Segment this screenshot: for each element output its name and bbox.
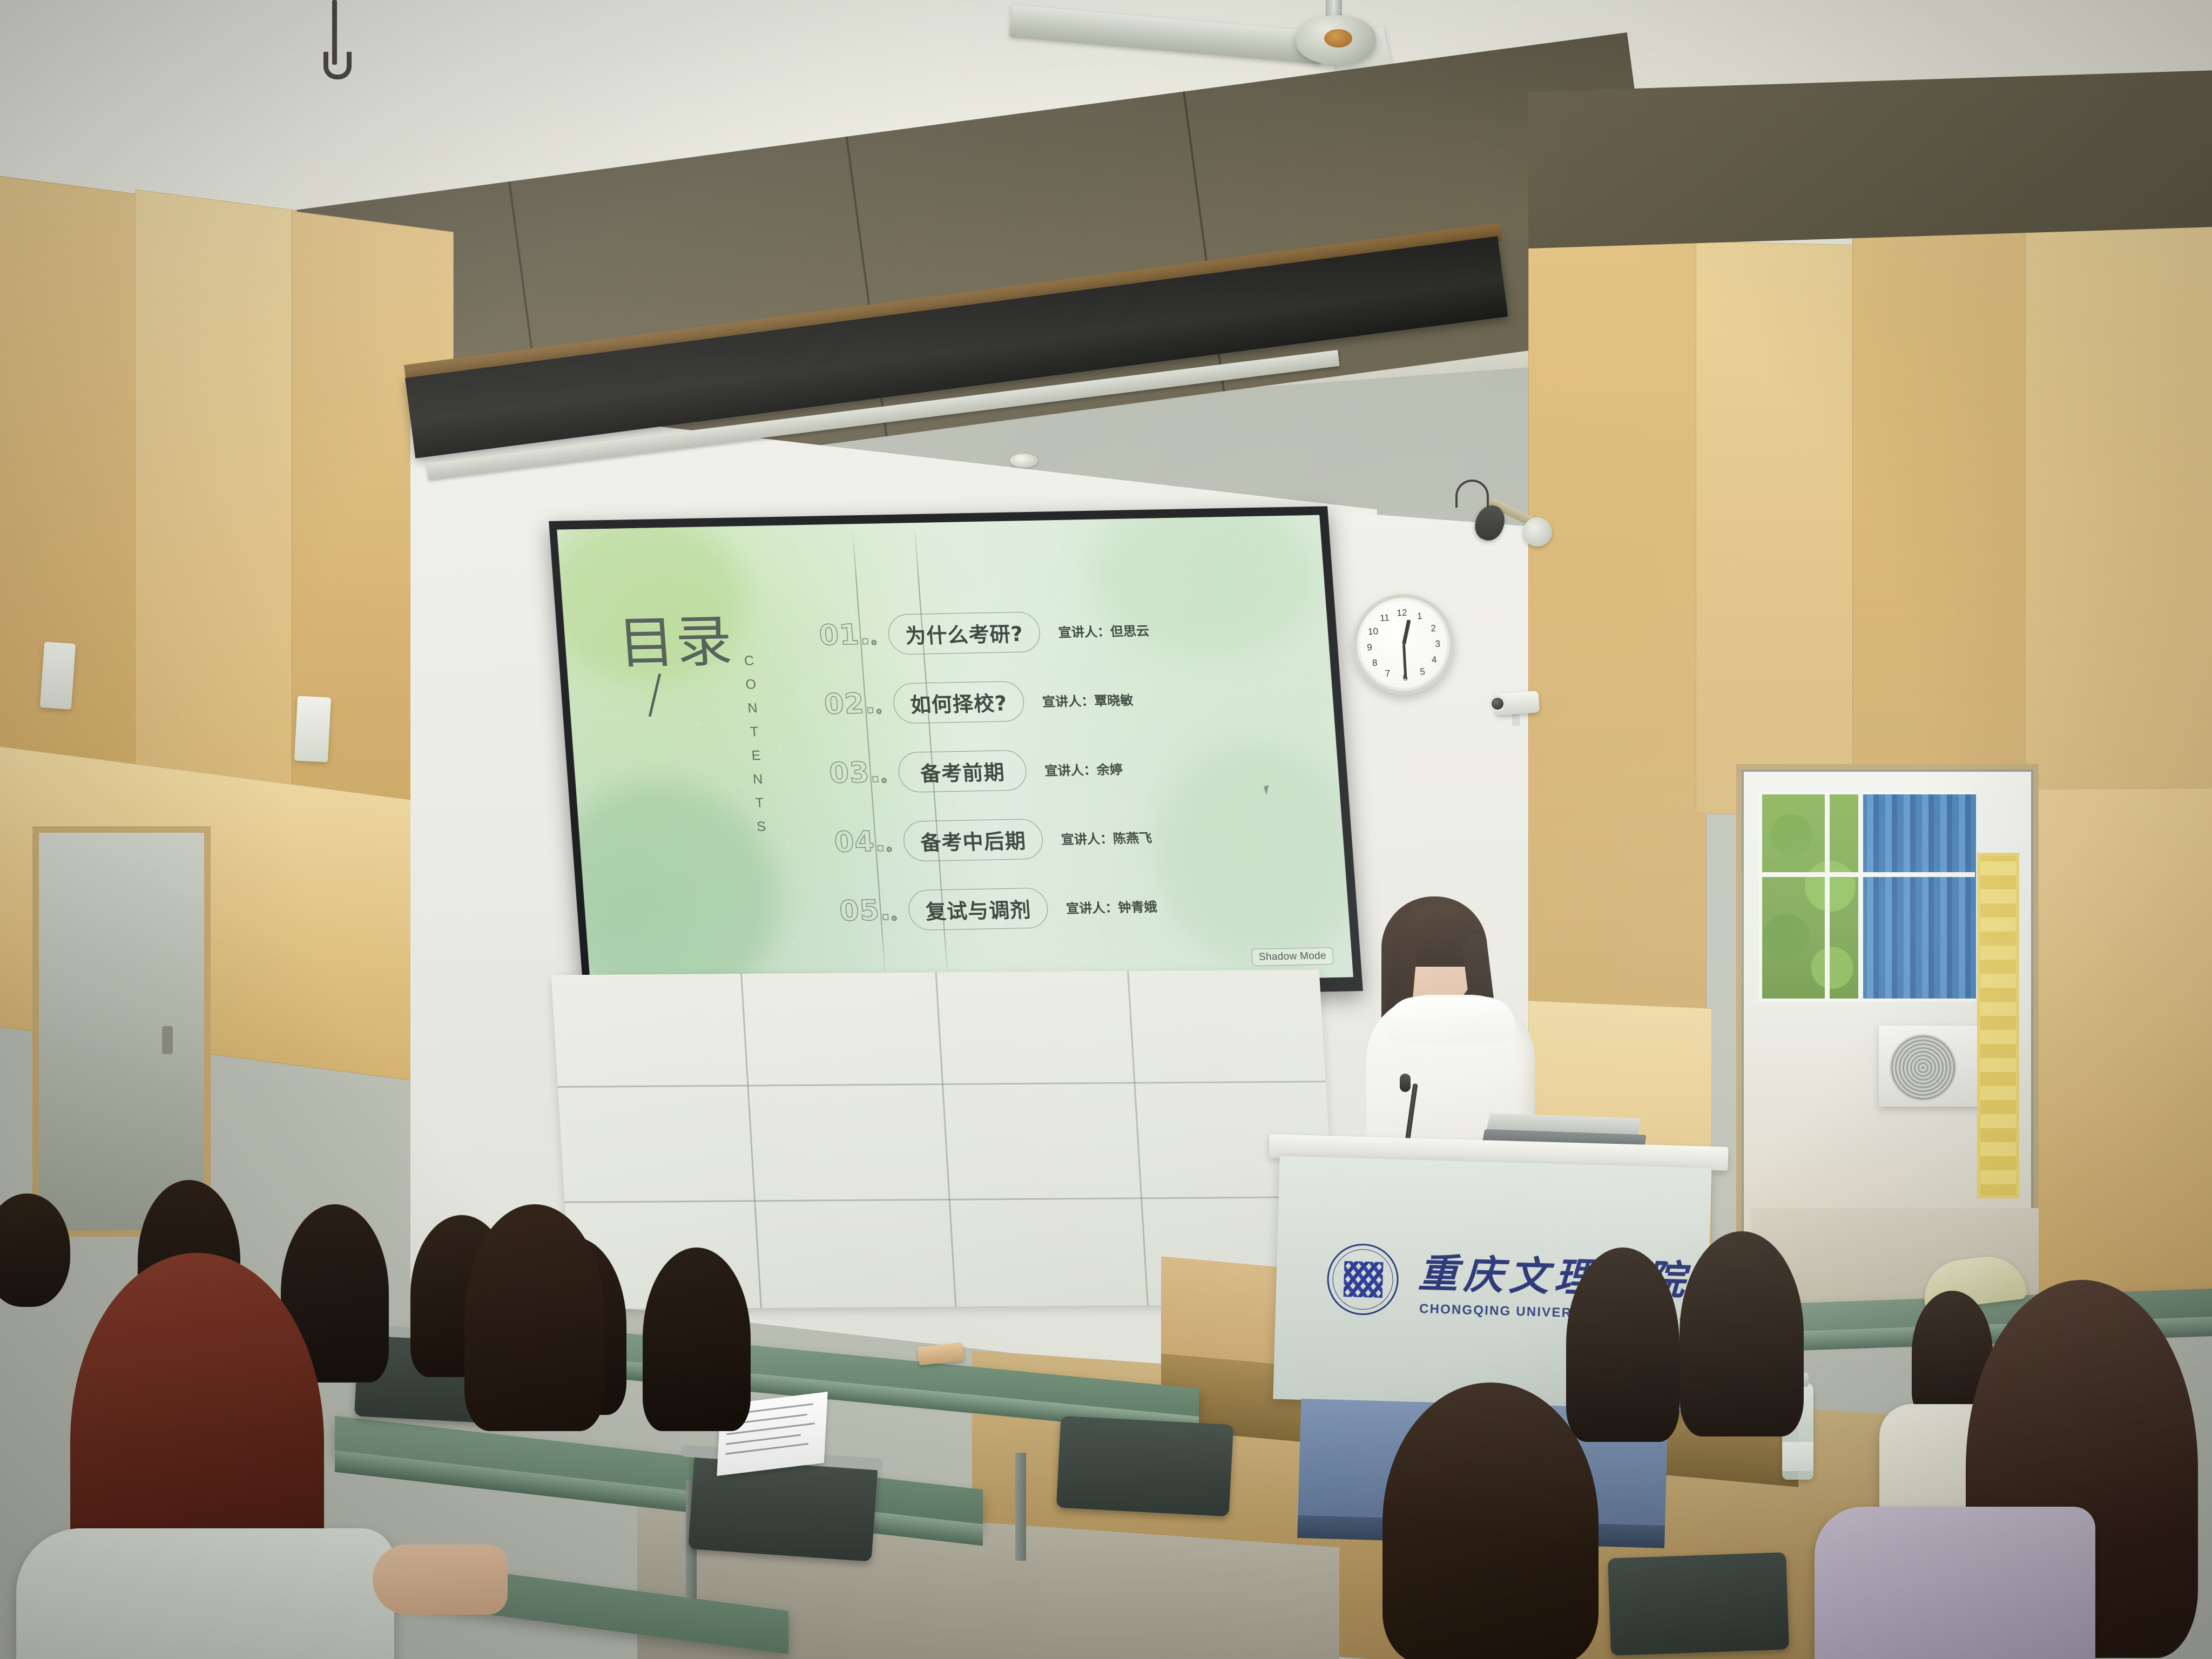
wall-wood-panel-dark <box>1528 70 2212 248</box>
status-badge[interactable]: Shadow Mode <box>1251 947 1334 966</box>
list-item[interactable]: 03.。 备考前期 宣讲人：余婷 <box>827 736 1307 803</box>
audience-head <box>643 1247 751 1431</box>
toc-topic-pill[interactable]: 为什么考研? <box>887 611 1041 655</box>
window-mullion <box>1825 791 1830 1002</box>
audience-head <box>1566 1247 1680 1442</box>
wall-wood-panel <box>135 190 297 859</box>
ceiling-hook-icon <box>332 0 337 65</box>
wall-speaker-icon <box>294 696 331 762</box>
outdoor-trees <box>1762 794 1859 999</box>
projection-screen[interactable]: 目录 / CONTENTS 01.。 为什么考研? 宣讲人：但思云 <box>549 506 1363 1006</box>
toc-speaker: 宣讲人：覃晓敏 <box>1042 689 1134 710</box>
fan-cap <box>1324 29 1352 48</box>
toc-topic-pill[interactable]: 复试与调剂 <box>907 887 1049 930</box>
wall-wood-panel <box>0 173 140 832</box>
microphone-icon <box>1400 1074 1411 1092</box>
whiteboard <box>551 970 1339 1310</box>
student-shirt <box>16 1528 394 1659</box>
wall-wood-panel <box>1528 223 1707 1019</box>
list-item[interactable]: 05.。 复试与调剂 宣讲人：钟青娥 <box>838 873 1318 941</box>
wall-wood-panel <box>2031 788 2212 1318</box>
toc-topic-pill[interactable]: 如何择校? <box>892 680 1026 723</box>
clock-face: 12 1 2 3 4 5 6 7 8 9 10 11 <box>1358 598 1449 690</box>
spotlight-mount <box>1523 517 1552 547</box>
door-left[interactable] <box>32 826 211 1237</box>
university-logo-mark <box>1344 1261 1384 1298</box>
clock-numeral: 1 <box>1417 611 1422 622</box>
clock-numeral: 10 <box>1368 626 1379 638</box>
toc-speaker: 宣讲人：但思云 <box>1057 620 1150 640</box>
audience-head <box>1680 1231 1804 1437</box>
window-mullion <box>1858 791 1863 1002</box>
toc-speaker: 宣讲人：余婷 <box>1044 759 1123 779</box>
ac-fan-grille-icon <box>1890 1034 1957 1101</box>
camera-lens <box>1489 696 1506 712</box>
toc-speaker: 宣讲人：钟青娥 <box>1065 896 1158 916</box>
door-handle-icon[interactable] <box>162 1026 173 1054</box>
list-item[interactable]: 04.。 备考中后期 宣讲人：陈燕飞 <box>832 804 1312 872</box>
toc-topic-pill[interactable]: 备考前期 <box>897 750 1028 792</box>
clock-numeral: 8 <box>1372 658 1378 669</box>
wall-wood-panel <box>1852 226 2036 811</box>
clock-hour-hand <box>1402 619 1411 644</box>
student-shirt <box>1815 1507 2095 1659</box>
outdoor-view <box>1744 772 2031 1340</box>
toc-number: 03.。 <box>828 756 900 790</box>
list-item[interactable]: 02.。 如何择校? 宣讲人：覃晓敏 <box>822 666 1302 734</box>
clock-numeral: 5 <box>1420 666 1426 677</box>
presenter-collar <box>1386 997 1515 1043</box>
desk-leg <box>1015 1453 1026 1561</box>
audience-arm <box>373 1545 508 1615</box>
toc-number: 05.。 <box>838 894 910 927</box>
clock-numeral: 7 <box>1385 669 1391 679</box>
clock-numeral: 12 <box>1397 607 1407 618</box>
clock-numeral: 3 <box>1435 639 1441 650</box>
chair <box>1056 1416 1233 1517</box>
wall-speaker-icon <box>40 642 76 710</box>
window-mullion <box>1759 872 1975 877</box>
toc-topic-pill[interactable]: 备考中后期 <box>902 818 1044 861</box>
classroom-photo: 目录 / CONTENTS 01.。 为什么考研? 宣讲人：但思云 <box>0 0 2212 1659</box>
clock-numeral: 2 <box>1431 623 1437 634</box>
slide-toc-list: 01.。 为什么考研? 宣讲人：但思云 02.。 如何择校? 宣讲人：覃晓敏 <box>817 597 1318 951</box>
spotlight-wire <box>1455 480 1489 508</box>
chair <box>1608 1552 1789 1655</box>
clock-numeral: 4 <box>1431 655 1437 665</box>
wall-wood-panel <box>1696 241 1863 818</box>
toc-number: 01.。 <box>818 618 890 652</box>
list-item[interactable]: 01.。 为什么考研? 宣讲人：但思云 <box>817 597 1297 665</box>
phone-on-desk <box>917 1343 964 1366</box>
slide-title-cn: 目录 / <box>616 612 739 721</box>
slide-surface: 目录 / CONTENTS 01.。 为什么考研? 宣讲人：但思云 <box>557 515 1353 992</box>
bottle-label <box>1782 1442 1813 1471</box>
outdoor-blue-curtain <box>1860 794 1976 999</box>
audience-head-foreground <box>464 1204 605 1431</box>
clock-numeral: 11 <box>1380 612 1390 624</box>
outdoor-railing <box>1977 853 2019 1198</box>
door-left-panel <box>39 833 204 1230</box>
university-seal-icon <box>1326 1243 1400 1316</box>
toc-number: 04.。 <box>833 825 905 859</box>
slide-title-block: 目录 / CONTENTS <box>591 605 848 944</box>
downlight-icon <box>1010 454 1038 468</box>
toc-speaker: 宣讲人：陈燕飞 <box>1060 827 1152 847</box>
toc-number: 02.。 <box>823 687 895 720</box>
slide-title-en: CONTENTS <box>740 653 770 843</box>
audience-head-foreground <box>1382 1382 1599 1659</box>
wall-wood-panel <box>2025 210 2212 811</box>
clock-numeral: 9 <box>1367 642 1373 653</box>
